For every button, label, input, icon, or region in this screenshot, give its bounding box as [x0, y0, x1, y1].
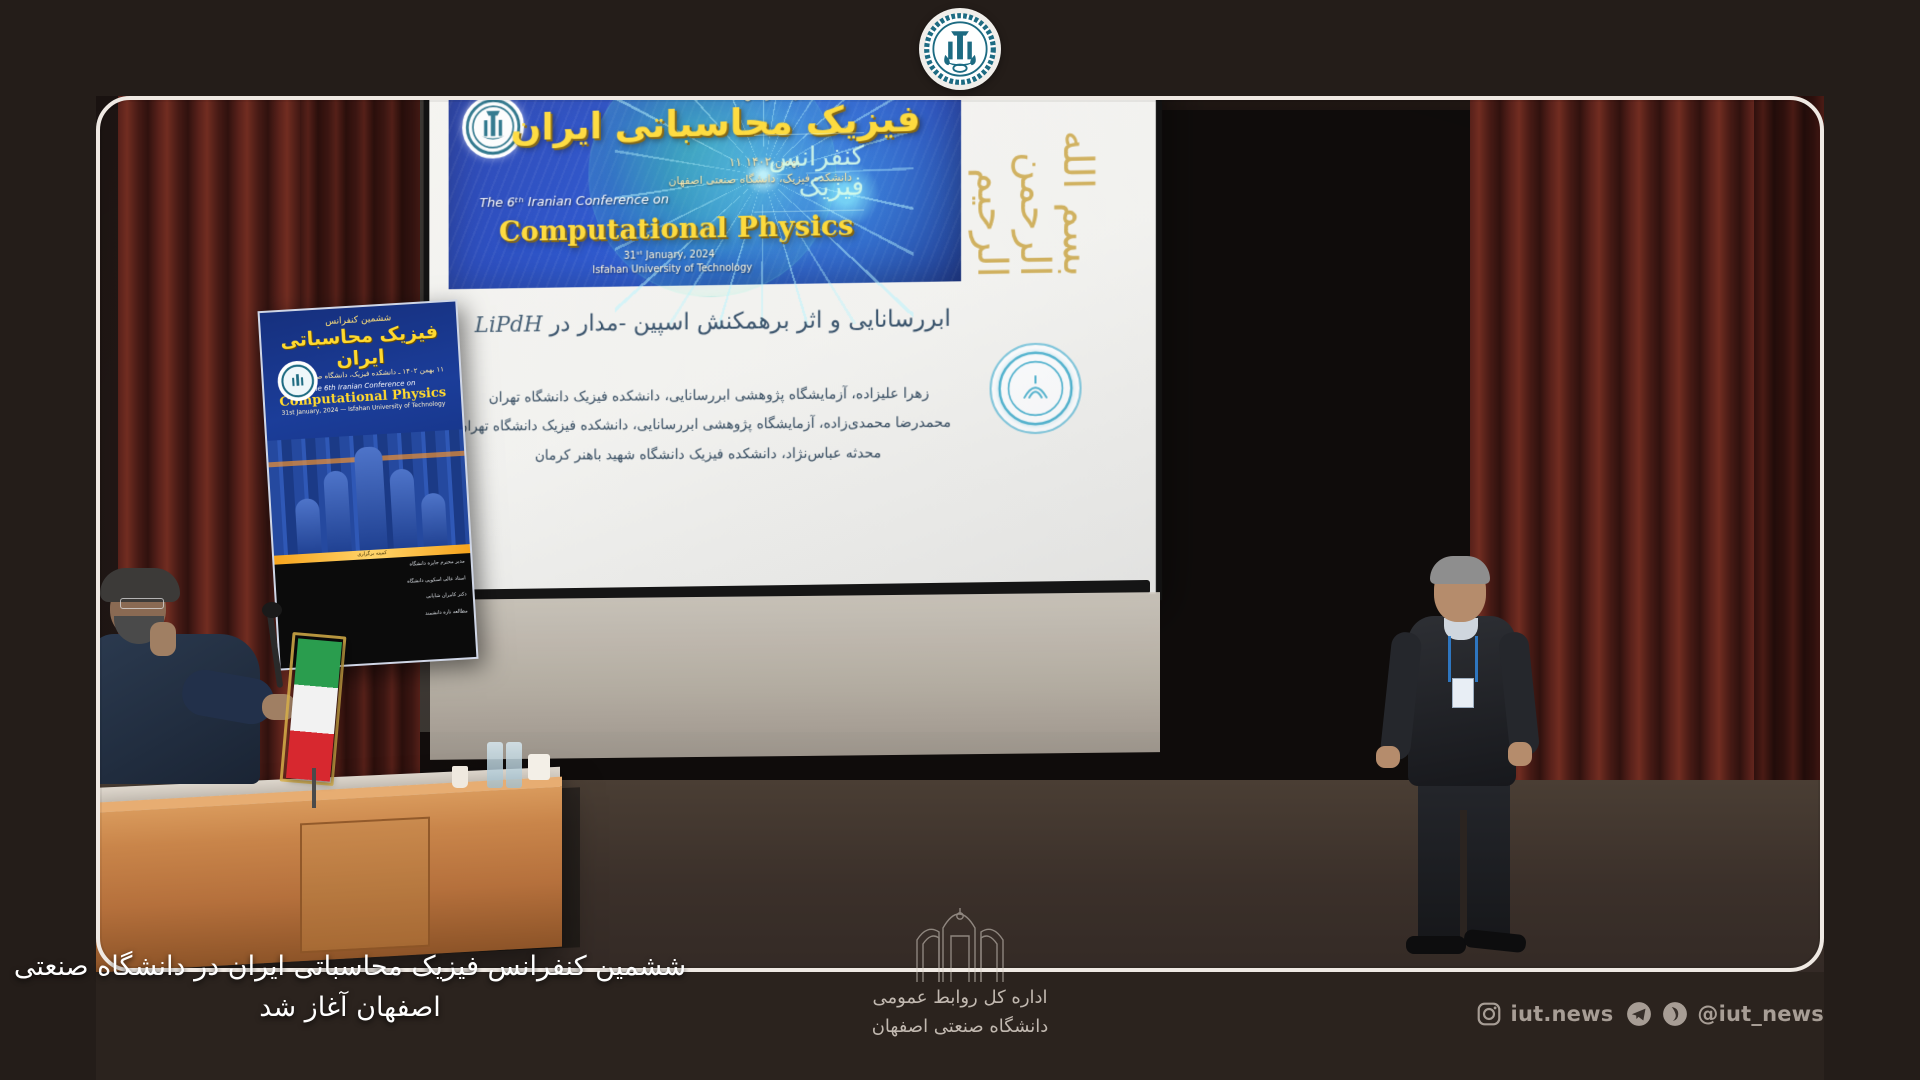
- bismillah-calligraphy: بسم الله الرحمن الرحیم: [988, 84, 1082, 278]
- telegram-icon[interactable]: [1625, 1000, 1653, 1028]
- university-of-tehran-logo: [990, 342, 1082, 434]
- news-caption: ششمین کنفرانس فیزیک محاسباتی ایران در دا…: [0, 947, 700, 1028]
- presenter-person: [1390, 560, 1540, 970]
- seated-person: [86, 570, 266, 780]
- slide-title-fa: ابررسانایی و اثر برهمکنش اسپین -مدار در: [550, 306, 951, 337]
- presentation-slide: ششمین کنفرانس فیزیک محاسباتی ایران ۱۱ به…: [429, 26, 1155, 594]
- messaging-group[interactable]: @iut_news: [1625, 1000, 1824, 1028]
- pr-line-1: اداره کل روابط عمومی: [872, 983, 1049, 1013]
- author-line: محدثه عباس‌نژاد، دانشکده فیزیک دانشگاه ش…: [468, 439, 951, 472]
- slide-title: ابررسانایی و اثر برهمکنش اسپین -مدار در …: [483, 306, 951, 338]
- frame-mask-left: [0, 0, 96, 1080]
- frame-mask-right: [1824, 0, 1920, 1080]
- conference-rollup-banner: ششمین کنفرانس فیزیک محاسباتی ایران ۱۱ به…: [258, 299, 479, 670]
- rollup-monument-art: [267, 429, 470, 560]
- banner-calligraphy: کنفرانس فیزیک: [754, 132, 864, 212]
- instagram-icon[interactable]: [1475, 1000, 1503, 1028]
- screen-backdrop-cloth: [430, 592, 1160, 760]
- public-relations-logo-icon: [905, 906, 1015, 984]
- banner-title-en: Computational Physics: [499, 209, 854, 248]
- microphone-head: [262, 602, 282, 618]
- water-bottle: [506, 742, 522, 788]
- public-relations-text: اداره کل روابط عمومی دانشگاه صنعتی اصفها…: [872, 983, 1049, 1042]
- slide-title-latin: LiPdH: [475, 312, 543, 338]
- water-bottle: [487, 742, 503, 788]
- iut-header-emblem: [919, 8, 1001, 90]
- tissue-box: [528, 754, 550, 780]
- rollup-header: ششمین کنفرانس فیزیک محاسباتی ایران ۱۱ به…: [260, 302, 462, 418]
- social-handles: iut.news @iut_news: [1475, 1000, 1824, 1028]
- flag-pole: [312, 768, 316, 808]
- slide-header-banner: ششمین کنفرانس فیزیک محاسباتی ایران ۱۱ به…: [449, 69, 961, 289]
- podium-front-panel: [300, 817, 430, 954]
- projection-screen: ششمین کنفرانس فیزیک محاسباتی ایران ۱۱ به…: [424, 19, 1162, 600]
- bale-icon[interactable]: [1661, 1000, 1689, 1028]
- news-photo-card: ششمین کنفرانس فیزیک محاسباتی ایران ۱۱ به…: [0, 0, 1920, 1080]
- rollup-iut-seal-icon: [277, 360, 319, 402]
- screen-surface: ششمین کنفرانس فیزیک محاسباتی ایران ۱۱ به…: [429, 26, 1155, 594]
- author-line: محمدرضا محمدی‌زاده، آزمایشگاه پژوهشی ابر…: [468, 409, 951, 442]
- instagram-handle[interactable]: iut.news: [1511, 1002, 1614, 1026]
- slide-authors: زهرا علیزاده، آزمایشگاه پژوهشی ابررسانای…: [468, 379, 951, 471]
- instagram-group[interactable]: iut.news: [1475, 1000, 1614, 1028]
- paper-cup: [452, 766, 468, 788]
- author-line: زهرا علیزاده، آزمایشگاه پژوهشی ابررسانای…: [468, 379, 951, 413]
- messaging-handle[interactable]: @iut_news: [1697, 1002, 1824, 1026]
- pr-line-2: دانشگاه صنعتی اصفهان: [872, 1012, 1049, 1042]
- banner-date-en: 31ˢᵗ January, 2024: [624, 249, 715, 261]
